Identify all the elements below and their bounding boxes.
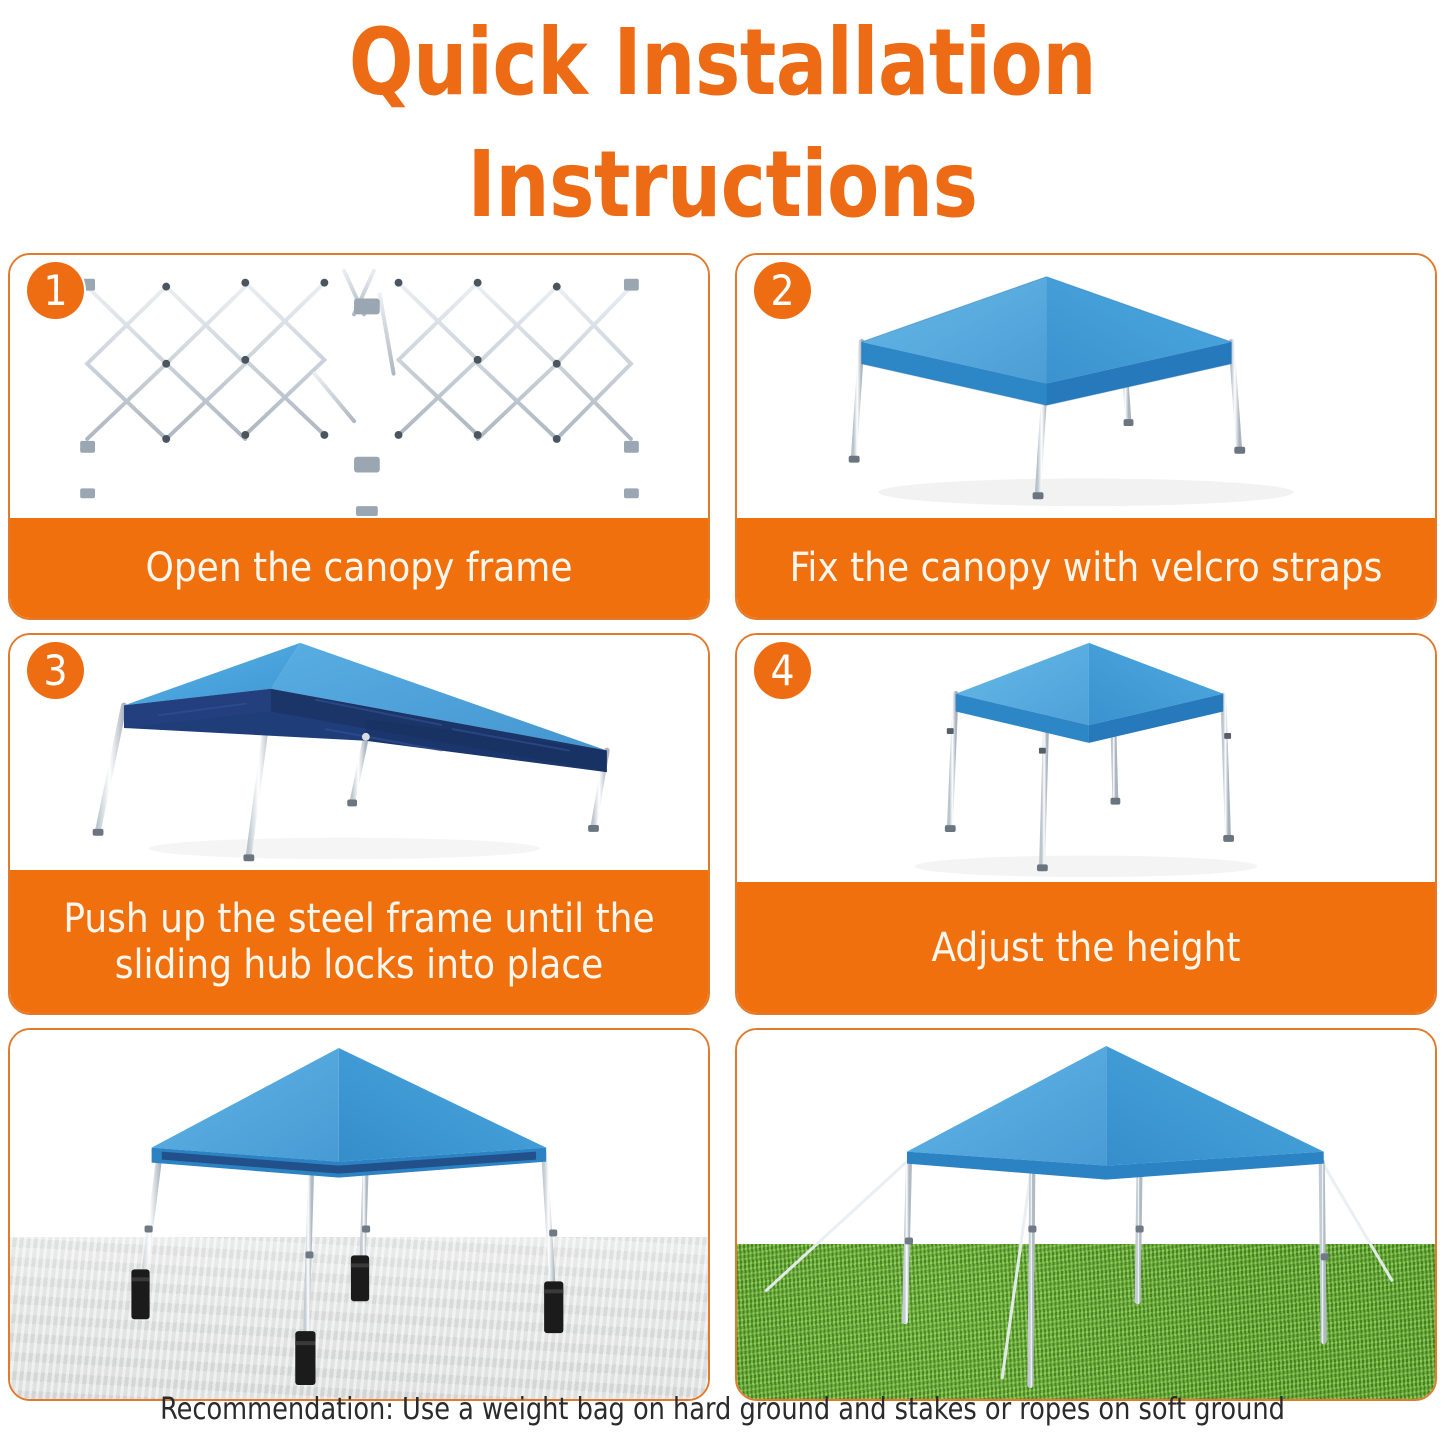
step-number-badge-4: 4: [754, 642, 811, 699]
step-caption-2: Fix the canopy with velcro straps: [735, 518, 1437, 620]
guy-rope: [765, 1160, 1392, 1379]
recommendation-note: Recommendation: Use a weight bag on hard…: [36, 1392, 1409, 1427]
folded-canopy-frame-illustration: [10, 255, 708, 518]
step-card-3[interactable]: 3: [8, 633, 710, 1015]
canopy-with-top-fitted-illustration: [737, 255, 1435, 518]
step-card-1[interactable]: 1: [8, 253, 710, 620]
result-card-soft-ground[interactable]: [735, 1028, 1437, 1401]
canopy-svg-soft-ground: [737, 1030, 1435, 1399]
step-number-badge-3: 3: [27, 642, 84, 699]
canopy-on-hard-ground-with-weight-bags: [10, 1030, 708, 1399]
step-caption-3: Push up the steel frame until the slidin…: [8, 870, 710, 1015]
instruction-sheet: Quick Installation Instructions 1: [0, 0, 1445, 1437]
step-card-2[interactable]: 2: [735, 253, 1437, 620]
step-number-badge-2: 2: [754, 262, 811, 319]
steps-row-1: 1: [8, 253, 1437, 620]
canopy-svg-step2: [737, 255, 1435, 518]
canopy-tilted-pushing-up-illustration: [10, 635, 708, 870]
canopy-height-adjust-illustration: [737, 635, 1435, 882]
weight-bag: [131, 1255, 563, 1385]
page-title: Quick Installation Instructions: [58, 2, 1387, 247]
steps-grid: 1: [8, 253, 1437, 1401]
canopy-svg-step4: [737, 635, 1435, 882]
result-row: [8, 1028, 1437, 1401]
step-number-badge-1: 1: [27, 262, 84, 319]
canopy-frame-svg: [10, 255, 708, 518]
step-caption-1: Open the canopy frame: [8, 518, 710, 620]
step-caption-4: Adjust the height: [735, 882, 1437, 1015]
result-card-hard-ground[interactable]: [8, 1028, 710, 1401]
canopy-svg-hard-ground: [10, 1030, 708, 1399]
step-card-4[interactable]: 4: [735, 633, 1437, 1015]
canopy-on-soft-ground-with-stakes-and-ropes: [737, 1030, 1435, 1399]
canopy-svg-step3: [10, 635, 708, 870]
steps-row-2: 3: [8, 633, 1437, 1015]
